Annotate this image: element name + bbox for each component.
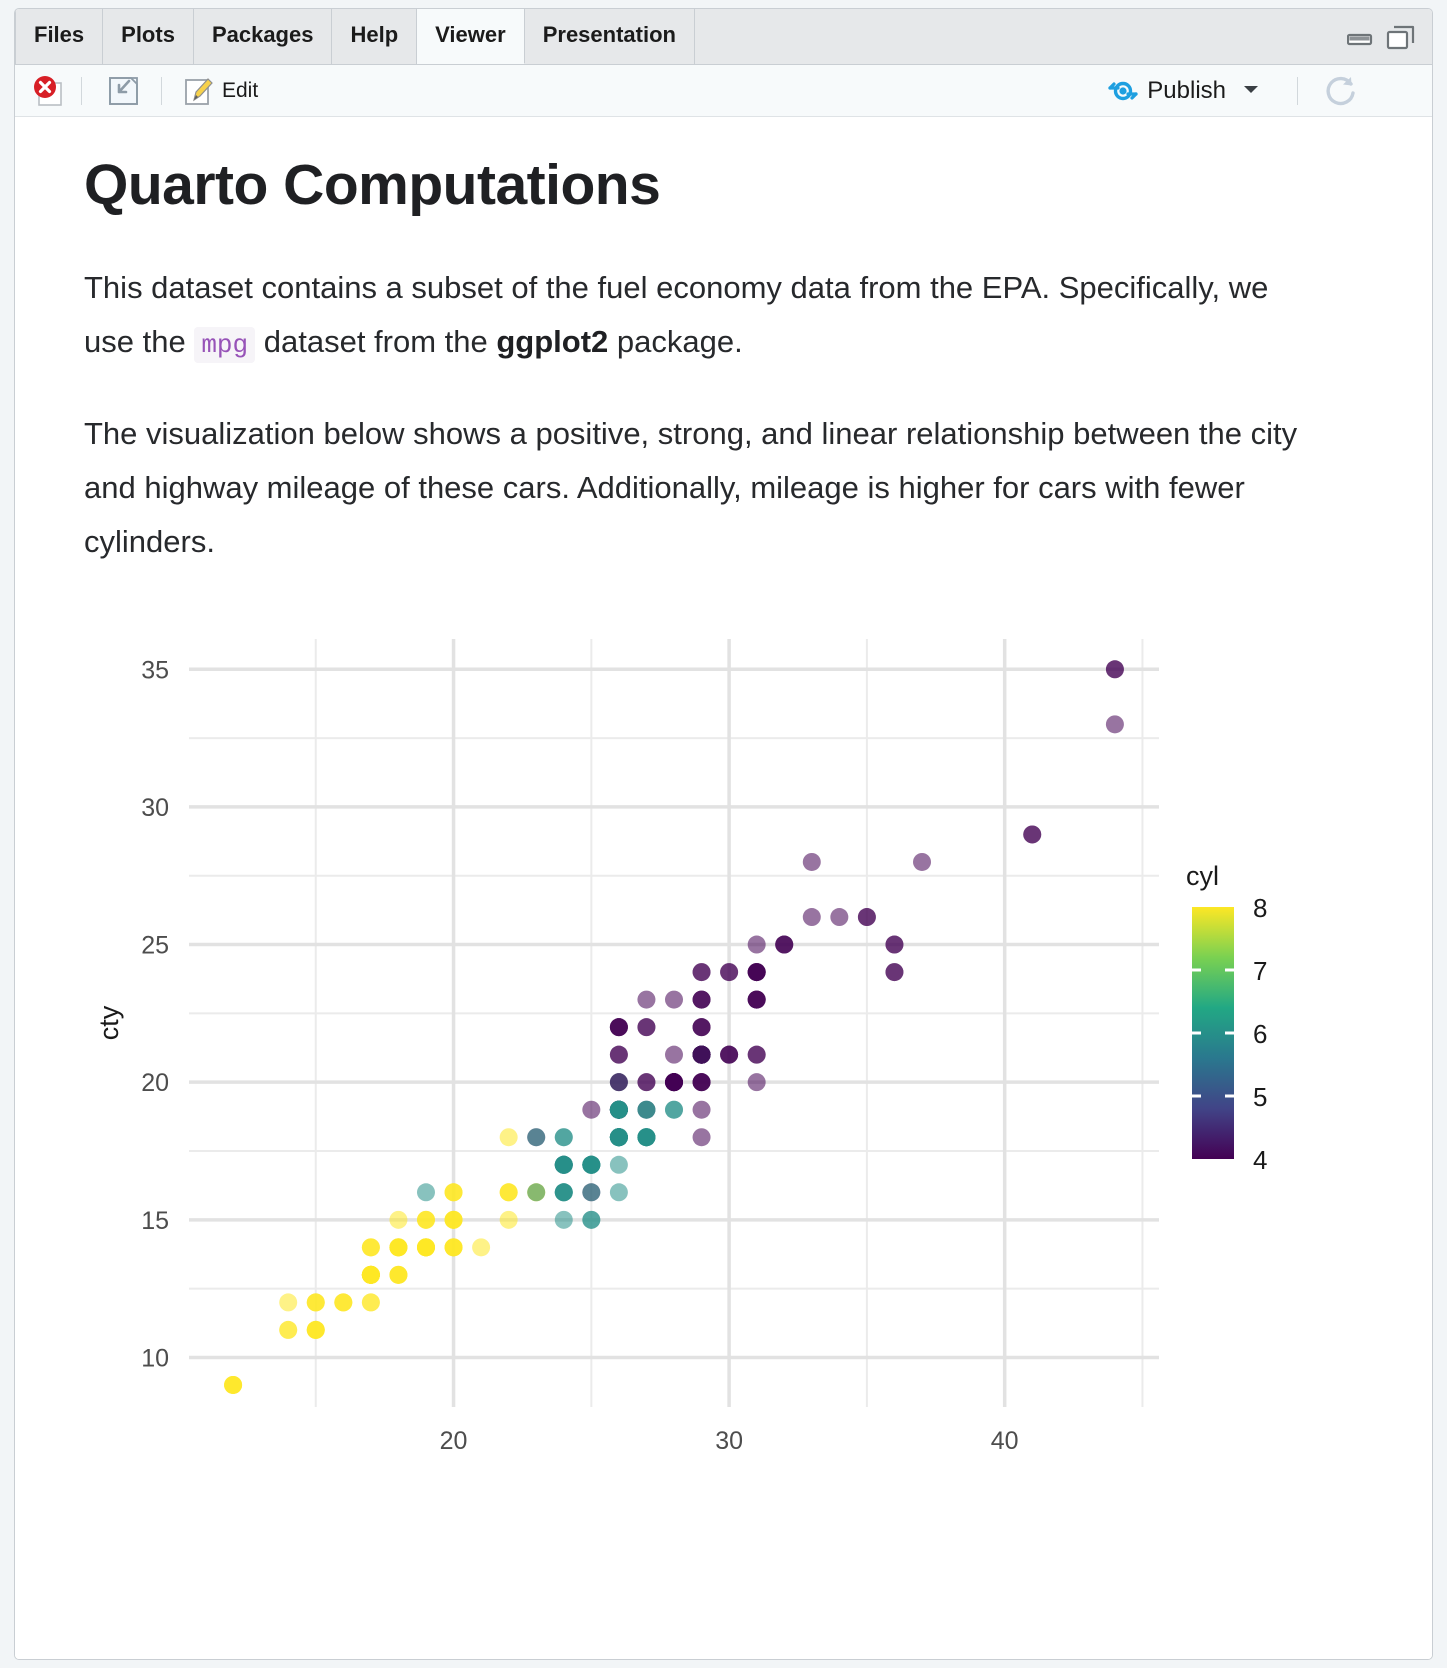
svg-text:35: 35: [141, 656, 169, 684]
pane-tabstrip: FilesPlotsPackagesHelpViewerPresentation: [15, 9, 1432, 65]
window-controls: [1338, 25, 1416, 56]
svg-text:30: 30: [141, 794, 169, 822]
svg-text:10: 10: [141, 1344, 169, 1372]
inline-code-mpg: mpg: [194, 327, 255, 363]
svg-text:8: 8: [1253, 893, 1267, 923]
toolbar-separator: [1297, 77, 1298, 105]
viewer-document: Quarto Computations This dataset contain…: [15, 117, 1433, 1660]
x-axis-tick-labels: 203040: [440, 1427, 1019, 1455]
x-axis-title: hwy: [650, 1475, 699, 1477]
tab-help[interactable]: Help: [332, 9, 417, 64]
publish-icon: [1106, 76, 1140, 106]
viewer-toolbar: Edit Publish: [15, 65, 1432, 117]
svg-text:20: 20: [440, 1427, 468, 1455]
svg-text:7: 7: [1253, 956, 1267, 986]
grid-minor: [189, 639, 1159, 1407]
tab-label: Help: [350, 22, 398, 47]
scatter-plot-cty-vs-hwy: 203040 101520253035 hwy cty cyl 87654: [84, 617, 1314, 1477]
toolbar-separator: [161, 77, 162, 105]
svg-text:5: 5: [1253, 1082, 1267, 1112]
y-axis-title: cty: [94, 1005, 124, 1040]
svg-text:4: 4: [1253, 1145, 1267, 1175]
plot-svg: 203040 101520253035 hwy cty cyl 87654: [84, 617, 1314, 1477]
toolbar-separator: [81, 77, 82, 105]
p1-text-c: package.: [608, 324, 742, 359]
minimize-icon[interactable]: [1347, 27, 1373, 54]
publish-label: Publish: [1147, 77, 1226, 105]
inline-bold-ggplot2: ggplot2: [496, 324, 608, 359]
paragraph-dataset-description: This dataset contains a subset of the fu…: [84, 261, 1299, 372]
svg-text:25: 25: [141, 932, 169, 960]
show-in-new-window-icon: [101, 72, 145, 110]
publish-button[interactable]: Publish: [1106, 65, 1260, 117]
colorbar-legend: cyl 87654: [1186, 861, 1267, 1175]
page-title: Quarto Computations: [84, 152, 660, 218]
tab-label: Plots: [121, 22, 175, 47]
edit-pencil-icon: [181, 74, 215, 108]
open-in-window-button[interactable]: [101, 65, 145, 117]
tab-viewer[interactable]: Viewer: [417, 9, 525, 64]
svg-text:20: 20: [141, 1069, 169, 1097]
tab-files[interactable]: Files: [15, 9, 103, 64]
svg-text:30: 30: [715, 1427, 743, 1455]
svg-text:15: 15: [141, 1207, 169, 1235]
refresh-icon: [1320, 71, 1360, 111]
tab-label: Presentation: [543, 22, 676, 47]
tab-label: Packages: [212, 22, 314, 47]
tab-label: Files: [34, 22, 84, 47]
legend-title: cyl: [1186, 861, 1219, 891]
stop-button[interactable]: [31, 65, 65, 117]
viewer-pane: FilesPlotsPackagesHelpViewerPresentation: [14, 8, 1433, 1660]
refresh-button[interactable]: [1320, 65, 1360, 117]
data-points: [224, 660, 1124, 1394]
edit-button[interactable]: Edit: [181, 65, 258, 117]
svg-text:40: 40: [991, 1427, 1019, 1455]
stop-icon: [31, 74, 65, 108]
tab-label: Viewer: [435, 22, 506, 47]
edit-label: Edit: [222, 79, 258, 103]
svg-text:6: 6: [1253, 1019, 1267, 1049]
tab-plots[interactable]: Plots: [103, 9, 194, 64]
maximize-icon[interactable]: [1386, 25, 1416, 56]
y-axis-tick-labels: 101520253035: [141, 656, 169, 1372]
paragraph-visualization-description: The visualization below shows a positive…: [84, 407, 1299, 569]
tab-packages[interactable]: Packages: [194, 9, 333, 64]
tab-presentation[interactable]: Presentation: [525, 9, 695, 64]
chevron-down-icon[interactable]: [1242, 82, 1260, 100]
p1-text-b: dataset from the: [255, 324, 496, 359]
legend-tick-labels: 87654: [1253, 893, 1267, 1175]
grid-major: [189, 639, 1159, 1407]
